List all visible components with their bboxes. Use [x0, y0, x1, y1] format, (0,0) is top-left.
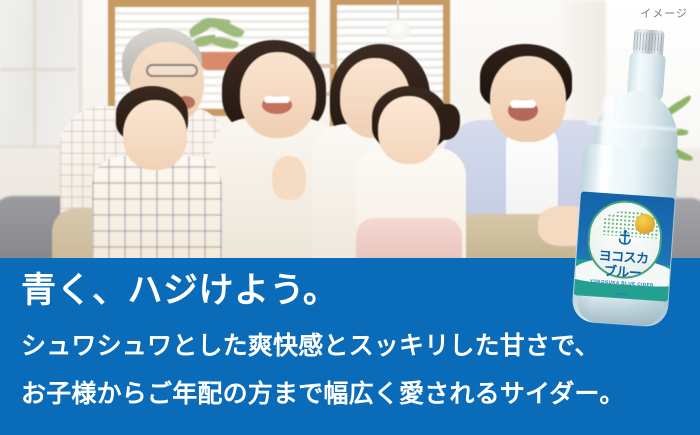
sub-line-1: シュワシュワとした爽快感とスッキリした甘さで、: [21, 331, 600, 361]
image-note-caption: イメージ: [640, 5, 688, 21]
cider-bottle: ヨコスカ ブルー YOKOSUKA BLUE CIDER 340ml: [554, 25, 692, 329]
headline-text: 青く、ハジけよう。: [21, 270, 338, 312]
anchor-icon: [615, 228, 634, 247]
glasses-icon: [146, 64, 198, 77]
sub-line-2: お子様からご年配の方まで幅広く愛されるサイダー。: [21, 379, 625, 409]
promo-banner-image: YOKOSUKA BLUE 青く、ハジけよう。 シュワシュワとした爽快感とスッキ…: [0, 0, 700, 435]
label-oval: ヨコスカ ブルー: [585, 198, 664, 281]
bottle-label: ヨコスカ ブルー YOKOSUKA BLUE CIDER 340ml: [574, 191, 675, 301]
